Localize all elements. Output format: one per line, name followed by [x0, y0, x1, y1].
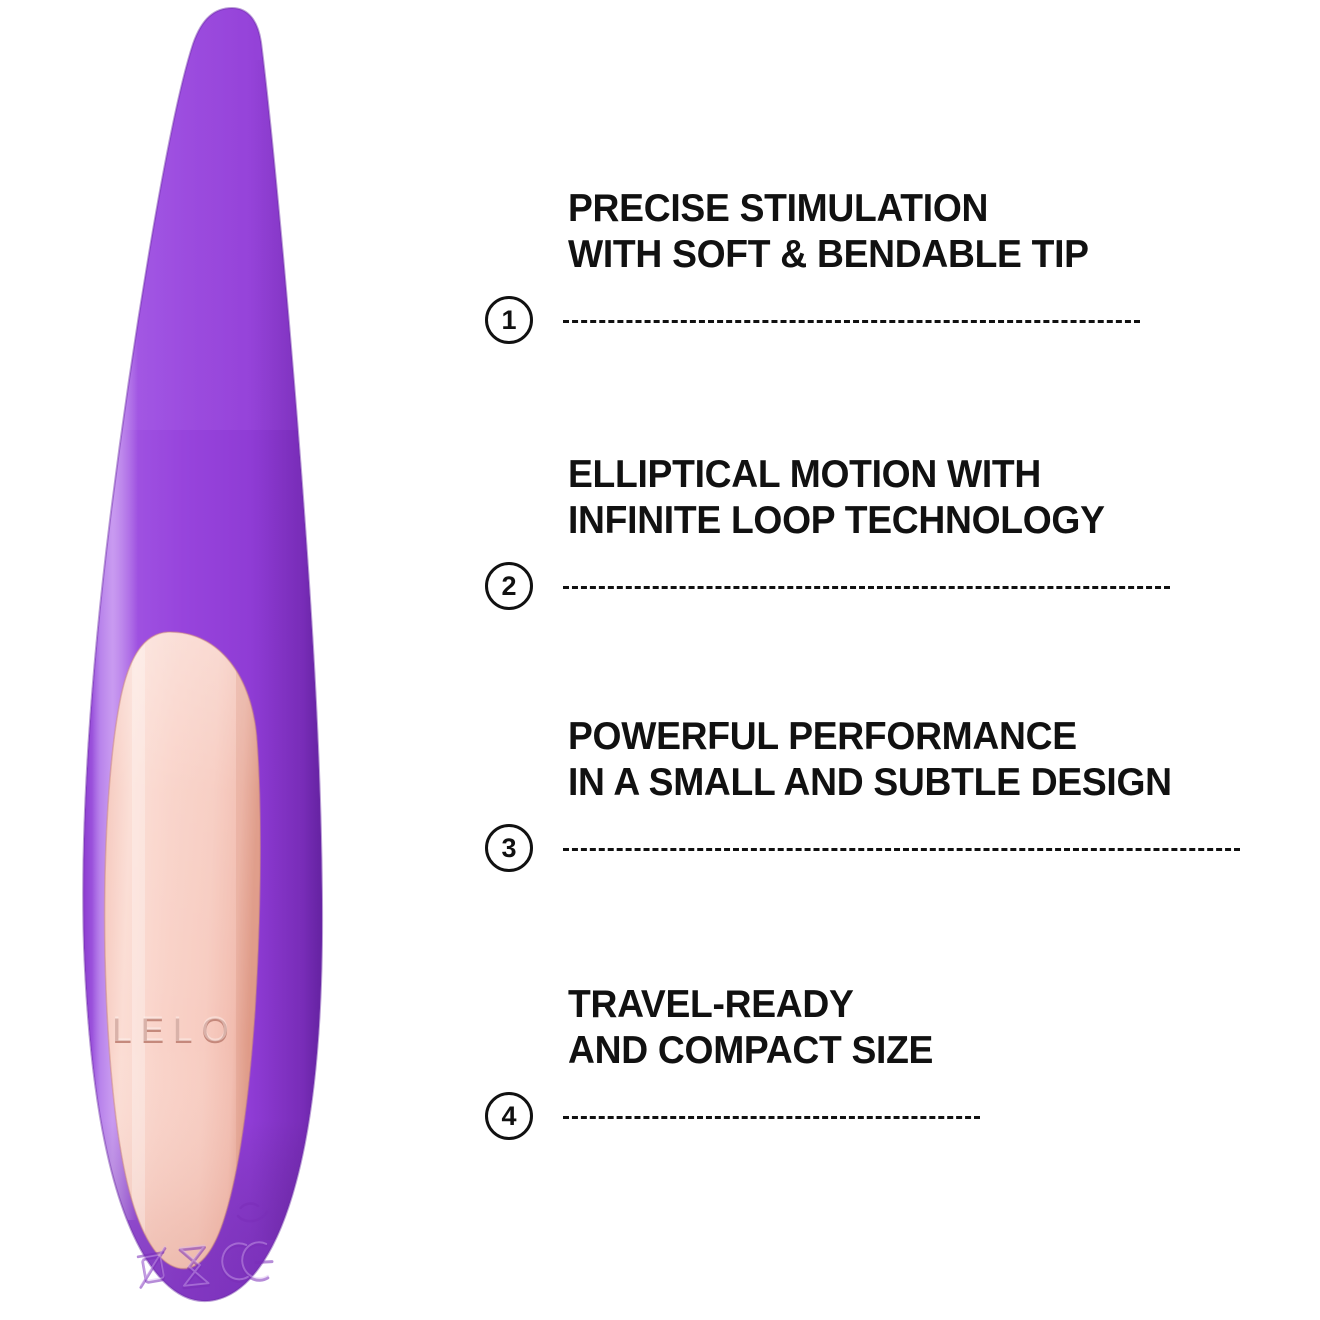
feature-marker-row: 4 — [460, 1092, 1320, 1146]
feature-heading-line: TRAVEL-READY — [568, 982, 933, 1028]
feature-heading: PRECISE STIMULATION WITH SOFT & BENDABLE… — [568, 186, 1089, 278]
feature-divider — [563, 848, 1240, 851]
feature-number-badge: 1 — [485, 296, 533, 344]
panel-glint — [132, 630, 145, 1290]
feature-heading: ELLIPTICAL MOTION WITH INFINITE LOOP TEC… — [568, 452, 1105, 544]
feature-divider — [563, 320, 1140, 323]
feature-marker-row: 1 — [460, 296, 1320, 350]
feature-heading-line: ELLIPTICAL MOTION WITH — [568, 452, 1105, 498]
feature-heading-line: IN A SMALL AND SUBTLE DESIGN — [568, 760, 1172, 806]
feature-number-badge: 2 — [485, 562, 533, 610]
feature-heading-line: AND COMPACT SIZE — [568, 1028, 933, 1074]
feature-heading-line: INFINITE LOOP TECHNOLOGY — [568, 498, 1105, 544]
right-rim-shadow — [250, 60, 340, 1240]
feature-number-badge: 3 — [485, 824, 533, 872]
tip-shading — [0, 0, 460, 430]
product-illustration: LELO LELO — [0, 0, 460, 1320]
feature-divider — [563, 1116, 980, 1119]
feature-heading: POWERFUL PERFORMANCE IN A SMALL AND SUBT… — [568, 714, 1172, 806]
feature-divider — [563, 586, 1170, 589]
feature-marker-row: 2 — [460, 562, 1320, 616]
feature-heading-line: PRECISE STIMULATION — [568, 186, 1089, 232]
product-image-pane: LELO LELO — [0, 0, 460, 1320]
brand-engraving-highlight: LELO — [112, 1010, 238, 1049]
feature-list: PRECISE STIMULATION WITH SOFT & BENDABLE… — [460, 0, 1320, 1320]
feature-number-badge: 4 — [485, 1092, 533, 1140]
feature-heading-line: WITH SOFT & BENDABLE TIP — [568, 232, 1089, 278]
feature-marker-row: 3 — [460, 824, 1320, 878]
feature-heading-line: POWERFUL PERFORMANCE — [568, 714, 1172, 760]
feature-heading: TRAVEL-READY AND COMPACT SIZE — [568, 982, 933, 1074]
